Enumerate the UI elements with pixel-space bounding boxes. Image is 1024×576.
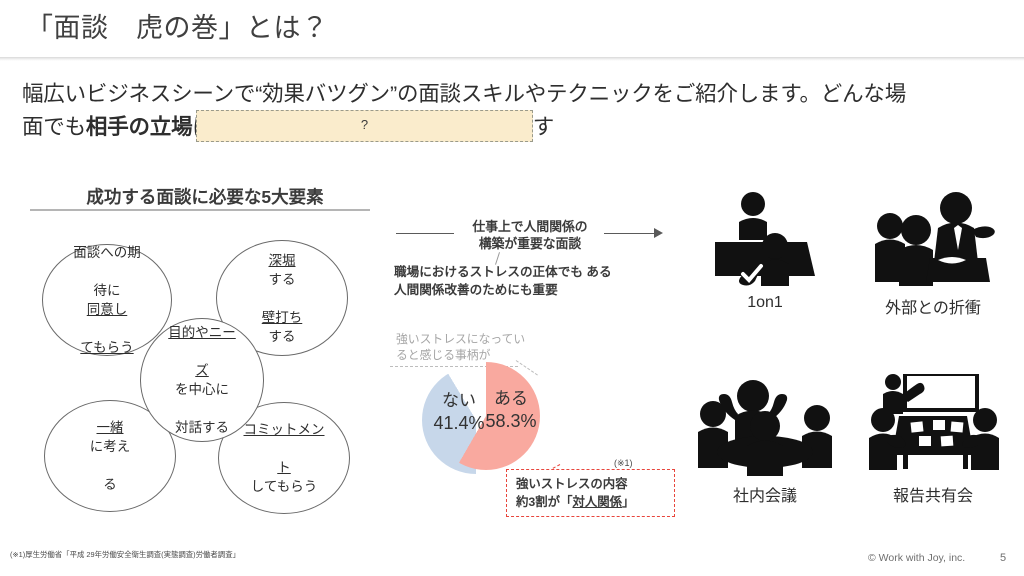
circle-think-line1b: に考え — [84, 437, 137, 456]
circle-center-line2a: ズ — [162, 361, 242, 380]
stress-note-line2: 人間関係改善のためにも重要 — [394, 283, 558, 297]
circle-commit-line2b: してもらう — [238, 477, 331, 496]
arrow-label: 仕事上で人間関係の 構築が重要な面談 — [452, 218, 608, 252]
circle-commit-line2a: ト — [238, 458, 331, 477]
title-bar: 「面談 虎の巻」とは？ — [0, 0, 1024, 58]
person-at-desk-icon — [690, 186, 840, 290]
circle-deepdive-line1b: する — [256, 270, 309, 289]
circle-deepdive-line2b: する — [256, 327, 309, 346]
footnote-source: (※1)厚生労働省「平成 29年労働安全衛生調査(実態調査)労働者調査」 — [10, 549, 240, 560]
pie-label-aru-name: ある — [474, 388, 548, 410]
five-elements-underline — [30, 209, 370, 211]
circle-think-line1a: 一緒 — [84, 418, 137, 437]
copyright-text: © Work with Joy, inc. — [868, 552, 965, 564]
element-circle-expectation[interactable]: 面談への期 待に同意し てもらう — [42, 244, 172, 356]
arrow-label-line2: 構築が重要な面談 — [479, 236, 581, 251]
circle-commit-line1: コミットメン — [238, 420, 331, 439]
scene-internal-meeting-caption: 社内会議 — [690, 482, 840, 506]
arrow-line-left — [396, 233, 454, 234]
pie-label-aru-value: 58.3% — [474, 410, 548, 432]
circle-center-line2b: を中心に — [162, 380, 242, 399]
lead-line-2-bold: 相手の立場 — [86, 115, 193, 139]
callout-line2-b: 」 — [622, 495, 634, 509]
page-title: 「面談 虎の巻」とは？ — [26, 6, 329, 45]
pie-label-aru: ある 58.3% — [474, 388, 548, 432]
element-circle-center-purpose[interactable]: 目的やニー ズを中心に 対話する — [140, 318, 264, 442]
arrow-label-line1: 仕事上で人間関係の — [472, 219, 587, 234]
stress-note-line1: 職場におけるストレスの正体でも ある — [394, 265, 612, 279]
whiteboard-presentation-icon — [858, 374, 1008, 478]
circle-think-line2: る — [84, 475, 137, 494]
scene-external-caption: 外部との折衝 — [858, 294, 1008, 318]
meeting-group-icon — [690, 374, 840, 478]
relationship-arrow: 仕事上で人間関係の 構築が重要な面談 — [396, 218, 664, 252]
circle-center-line3: 対話する — [162, 418, 242, 437]
circle-deepdive-line2a: 壁打ち — [256, 308, 309, 327]
lead-line-2-part-a: 面でも — [22, 115, 86, 139]
callout-line2-underlined: 対人関係 — [572, 495, 622, 509]
circle-expectation-line2b: 同意し — [67, 300, 147, 319]
question-mark-label: ? — [197, 117, 532, 132]
redaction-mask-box[interactable]: ? — [196, 110, 533, 142]
callout-line2-a: 約3割が「 — [516, 495, 572, 509]
pie-caption-line1: 強いストレスになってい — [396, 332, 525, 346]
page-number: 5 — [1000, 552, 1006, 564]
source-marker: (※1) — [614, 458, 633, 469]
scene-external[interactable]: 外部との折衝 — [858, 186, 1008, 318]
stress-note: 職場におけるストレスの正体でも ある 人間関係改善のためにも重要 — [394, 263, 626, 299]
scene-internal-meeting[interactable]: 社内会議 — [690, 374, 840, 506]
circle-deepdive-line1a: 深堀 — [256, 251, 309, 270]
circle-center-line1: 目的やニー — [162, 323, 242, 342]
scene-1on1-caption: 1on1 — [690, 294, 840, 312]
circle-expectation-line1: 面談への期 — [67, 243, 147, 262]
pie-caption: 強いストレスになってい ると感じる事柄が — [396, 331, 556, 363]
lead-line-1: 幅広いビジネスシーンで“効果バツグン”の面談スキルやテクニックをご紹介します。ど… — [22, 82, 906, 106]
scene-report-share-caption: 報告共有会 — [858, 482, 1008, 506]
title-divider — [0, 57, 1024, 61]
stress-content-callout: 強いストレスの内容 約3割が「対人関係」 — [506, 469, 675, 517]
five-elements-heading: 成功する面談に必要な5大要素 — [46, 184, 364, 209]
circle-expectation-line3: てもらう — [67, 338, 147, 357]
scene-1on1[interactable]: 1on1 — [690, 186, 840, 312]
scene-report-share[interactable]: 報告共有会 — [858, 374, 1008, 506]
circle-expectation-line2a: 待に — [67, 281, 147, 300]
slide-canvas: 「面談 虎の巻」とは？ 幅広いビジネスシーンで“効果バツグン”の面談スキルやテク… — [0, 0, 1024, 576]
handshake-group-icon — [858, 186, 1008, 290]
arrow-line-right — [604, 233, 656, 234]
arrow-head-icon — [654, 228, 663, 238]
callout-line1: 強いストレスの内容 — [516, 477, 628, 491]
